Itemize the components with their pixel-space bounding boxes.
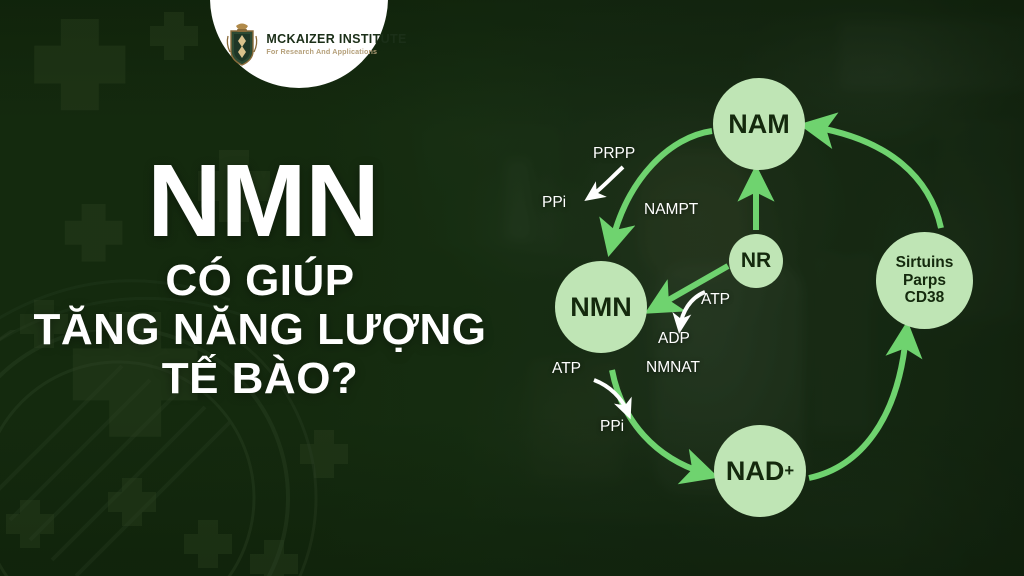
label-atp-middle: ATP: [701, 291, 730, 309]
logo-tagline: For Research And Applications: [266, 48, 406, 55]
nad-pathway-diagram: NAM NMN NAD+ NR Sirtuins Parps CD38 PRPP…: [500, 30, 1024, 546]
headline-line-4: TẾ BÀO?: [0, 356, 520, 402]
logo-name: MCKAIZER INSTITUTE: [266, 33, 406, 46]
heraldic-crest-icon: [225, 22, 259, 66]
node-nad-plus[interactable]: NAD+: [714, 425, 806, 517]
edge-sirtuins-to-nam: [814, 127, 941, 228]
node-sirtuins[interactable]: Sirtuins Parps CD38: [876, 232, 973, 329]
label-nmnat: NMNAT: [646, 359, 700, 377]
label-ppi-top: PPi: [542, 194, 566, 212]
label-adp: ADP: [658, 330, 690, 348]
node-nmn-label: NMN: [570, 292, 632, 322]
label-prpp: PRPP: [593, 145, 635, 163]
edge-nmn-to-nad: [612, 370, 704, 473]
node-nam[interactable]: NAM: [713, 78, 805, 170]
edge-nad-to-sirtuins: [809, 336, 906, 478]
node-nam-label: NAM: [728, 109, 790, 139]
node-nad-label: NAD: [726, 456, 785, 486]
node-sirtuins-line-3: CD38: [896, 289, 954, 306]
headline-line-2: CÓ GIÚP: [0, 258, 520, 304]
label-ppi-bottom: PPi: [600, 418, 624, 436]
headline-line-3: TĂNG NĂNG LƯỢNG: [0, 307, 520, 353]
node-nr[interactable]: NR: [729, 234, 783, 288]
label-nampt: NAMPT: [644, 201, 698, 219]
node-sirtuins-line-1: Sirtuins: [896, 254, 954, 271]
cofactor-arrow-prpp-ppi: [590, 167, 623, 197]
headline-line-1: NMN: [6, 154, 520, 249]
node-nmn[interactable]: NMN: [555, 261, 647, 353]
node-nr-label: NR: [741, 249, 771, 273]
logo-badge: MCKAIZER INSTITUTE For Research And Appl…: [210, 0, 388, 88]
label-atp-bottom: ATP: [552, 360, 581, 378]
poster-canvas: MCKAIZER INSTITUTE For Research And Appl…: [0, 0, 1024, 576]
headline-block: NMN CÓ GIÚP TĂNG NĂNG LƯỢNG TẾ BÀO?: [0, 154, 520, 402]
node-sirtuins-line-2: Parps: [896, 272, 954, 289]
